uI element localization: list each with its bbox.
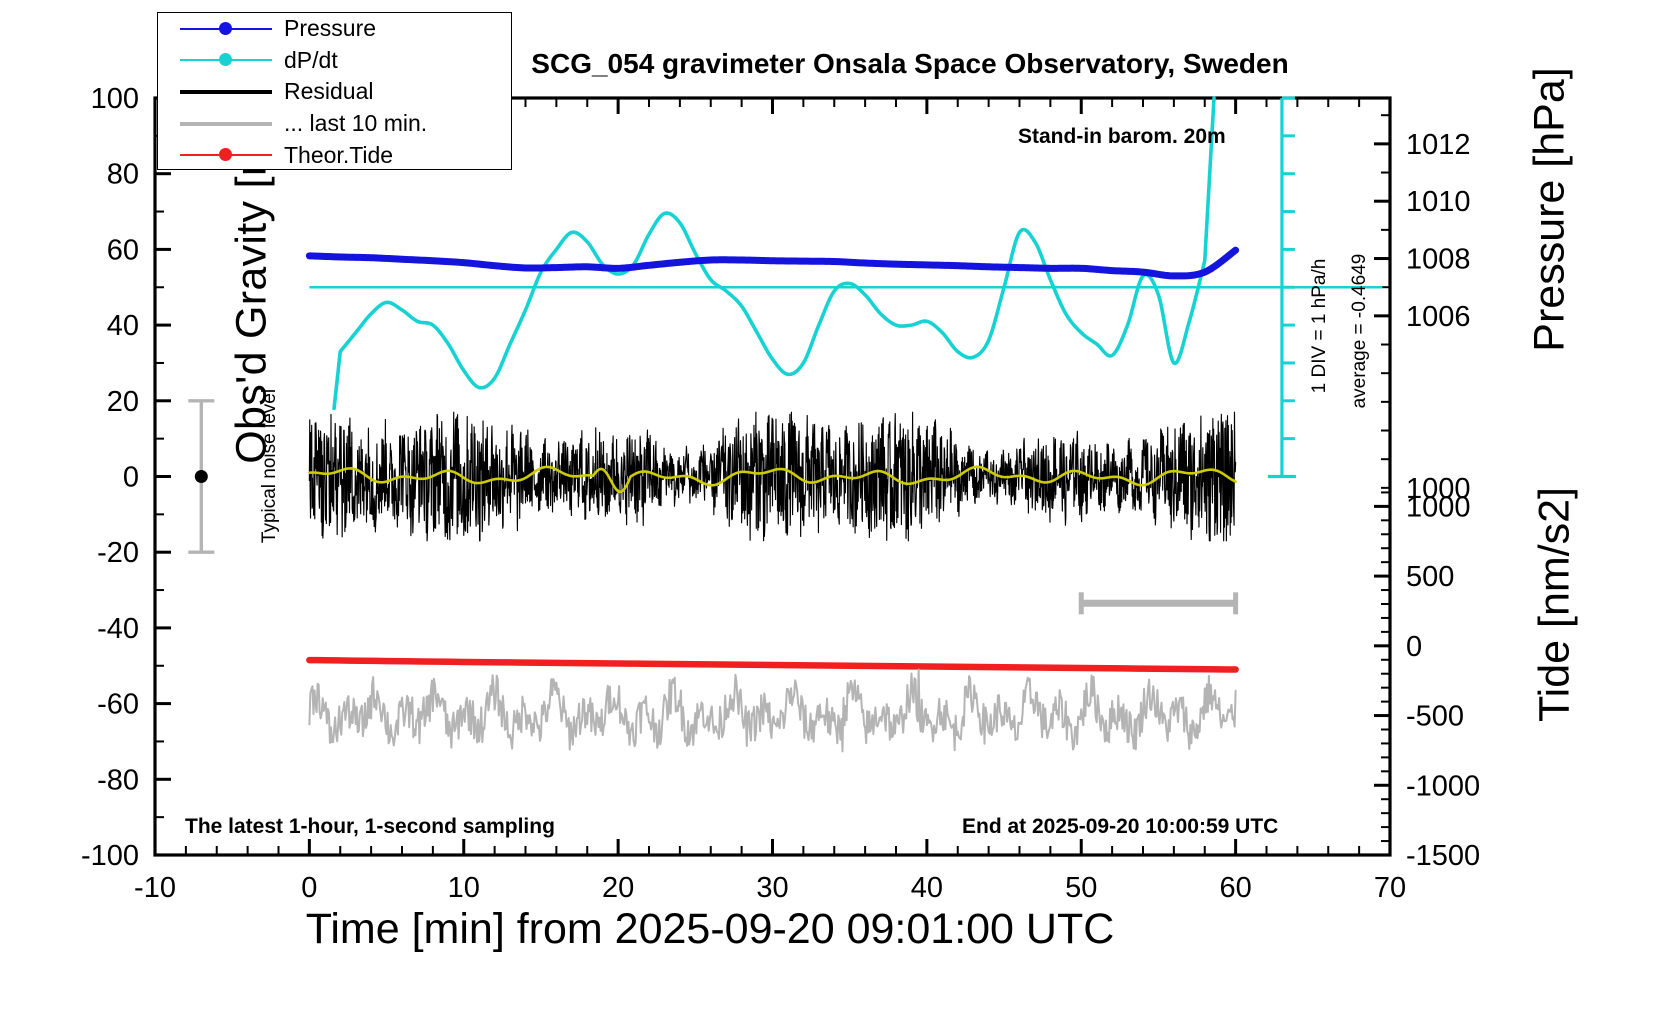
x-tick-label: 40 [911, 872, 943, 904]
x-tick-label: 30 [756, 872, 788, 904]
legend: PressuredP/dtResidual... last 10 min.The… [157, 12, 512, 170]
tide-tick-label: -1000 [1406, 770, 1480, 802]
pressure-tick-label: 1008 [1406, 244, 1471, 276]
legend-item-last10min[interactable]: ... last 10 min. [158, 108, 511, 140]
y-axis-label-tide: Tide [nm/s2] [1531, 395, 1580, 815]
pressure-tick-label: 1012 [1406, 129, 1471, 161]
legend-dot-theortide [219, 148, 232, 161]
tide-tick-label: 1000 [1406, 491, 1471, 523]
y-tick-label: 40 [107, 310, 139, 342]
legend-swatch-dpdt [180, 50, 272, 70]
tide-tick-label: -500 [1406, 701, 1464, 733]
legend-item-theortide[interactable]: Theor.Tide [158, 139, 511, 171]
x-tick-label: 20 [602, 872, 634, 904]
x-axis-label: Time [min] from 2025-09-20 09:01:00 UTC [0, 905, 1420, 954]
noise-errorbar-point [195, 470, 208, 483]
page-title: SCG_054 gravimeter Onsala Space Observat… [430, 48, 1390, 80]
legend-label-residual: Residual [272, 78, 374, 105]
legend-label-dpdt: dP/dt [272, 47, 338, 74]
legend-swatch-last10min [180, 114, 272, 134]
x-tick-label: 60 [1219, 872, 1251, 904]
legend-swatch-residual [180, 82, 272, 102]
typical-noise-level-label: Typical noise level [259, 366, 281, 566]
legend-label-theortide: Theor.Tide [272, 142, 393, 169]
y-tick-label: -80 [97, 764, 139, 796]
y-tick-label: -20 [97, 537, 139, 569]
legend-dot-pressure [219, 22, 232, 35]
y-tick-label: 0 [123, 462, 139, 494]
x-tick-label: -10 [134, 872, 176, 904]
y-axis-label-pressure: Pressure [hPa] [1526, 0, 1575, 440]
tide-tick-label: 0 [1406, 631, 1422, 663]
y-tick-label: 80 [107, 159, 139, 191]
legend-dot-dpdt [219, 53, 232, 66]
tide-tick-label: 500 [1406, 561, 1454, 593]
x-tick-label: 0 [301, 872, 317, 904]
legend-item-dpdt[interactable]: dP/dt [158, 45, 511, 77]
footer-right-annotation: End at 2025-09-20 10:00:59 UTC [962, 815, 1278, 839]
scale-average-label: average = -0.4649 [1349, 221, 1371, 441]
y-tick-label: -100 [81, 840, 139, 872]
x-tick-label: 10 [448, 872, 480, 904]
legend-swatch-theortide [180, 145, 272, 165]
legend-line-residual [180, 90, 272, 95]
legend-swatch-pressure [180, 19, 272, 39]
gravimeter-plot-page: -10010203040506070100806040200-20-40-60-… [0, 0, 1660, 1020]
y-tick-label: 20 [107, 386, 139, 418]
x-tick-label: 50 [1065, 872, 1097, 904]
standin-barom-annotation: Stand-in barom. 20m [1018, 125, 1226, 149]
legend-label-pressure: Pressure [272, 15, 376, 42]
y-axis-label-tide-text: Tide [nm/s2] [1531, 487, 1579, 722]
pressure-tick-label: 1010 [1406, 186, 1471, 218]
y-axis-label-pressure-text: Pressure [hPa] [1526, 67, 1574, 351]
y-tick-label: 60 [107, 234, 139, 266]
x-tick-label: 70 [1374, 872, 1406, 904]
legend-item-residual[interactable]: Residual [158, 76, 511, 108]
footer-left-annotation: The latest 1-hour, 1-second sampling [185, 815, 555, 839]
y-tick-label: -40 [97, 613, 139, 645]
tide-tick-label: -1500 [1406, 840, 1480, 872]
y-tick-label: -60 [97, 689, 139, 721]
scale-div-label: 1 DIV = 1 hPa/h [1309, 221, 1331, 431]
y-tick-label: 100 [91, 83, 139, 115]
legend-item-pressure[interactable]: Pressure [158, 13, 511, 45]
legend-label-last10min: ... last 10 min. [272, 110, 427, 137]
legend-line-last10min [180, 122, 272, 127]
pressure-tick-label: 1006 [1406, 301, 1471, 333]
x-axis-label-text: Time [min] from 2025-09-20 09:01:00 UTC [306, 905, 1115, 953]
